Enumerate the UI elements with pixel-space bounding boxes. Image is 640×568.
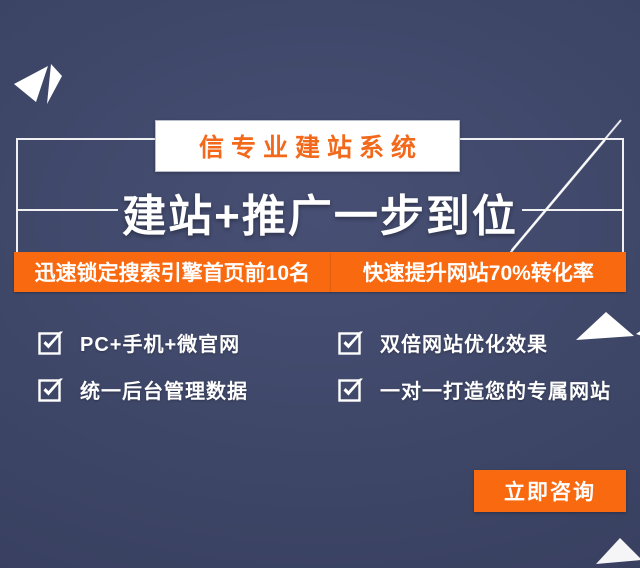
checkbox-checked-icon bbox=[38, 377, 64, 403]
list-item-label: 双倍网站优化效果 bbox=[380, 328, 548, 357]
list-item: 统一后台管理数据 bbox=[38, 375, 338, 404]
checkbox-checked-icon bbox=[338, 330, 364, 356]
list-item-label: 统一后台管理数据 bbox=[80, 375, 248, 404]
list-item-label: 一对一打造您的专属网站 bbox=[380, 375, 611, 404]
list-item-label: PC+手机+微官网 bbox=[80, 328, 240, 357]
consult-now-button[interactable]: 立即咨询 bbox=[474, 470, 626, 512]
page-title: 建站+推广一步到位 bbox=[0, 180, 640, 244]
status-badge-ranking: 迅速锁定搜索引擎首页前10名 bbox=[14, 252, 331, 292]
list-item: 一对一打造您的专属网站 bbox=[338, 375, 611, 404]
list-item: PC+手机+微官网 bbox=[38, 328, 338, 357]
checkbox-checked-icon bbox=[38, 330, 64, 356]
paper-plane-bottom-icon bbox=[596, 536, 640, 568]
paper-plane-left-icon bbox=[14, 62, 72, 108]
subtitle-text: 信专业建站系统 bbox=[192, 128, 423, 164]
checkbox-checked-icon bbox=[338, 377, 364, 403]
list-item: 双倍网站优化效果 bbox=[338, 328, 611, 357]
status-badge-conversion: 快速提升网站70%转化率 bbox=[331, 252, 626, 292]
badge-row: 迅速锁定搜索引擎首页前10名 快速提升网站70%转化率 bbox=[0, 252, 640, 292]
promo-banner: 信专业建站系统 建站+推广一步到位 迅速锁定搜索引擎首页前10名 快速提升网站7… bbox=[0, 0, 640, 568]
feature-list: PC+手机+微官网 双倍网站优化效果 统一后台管理数据 bbox=[0, 328, 640, 404]
subtitle-label-box: 信专业建站系统 bbox=[155, 120, 460, 172]
